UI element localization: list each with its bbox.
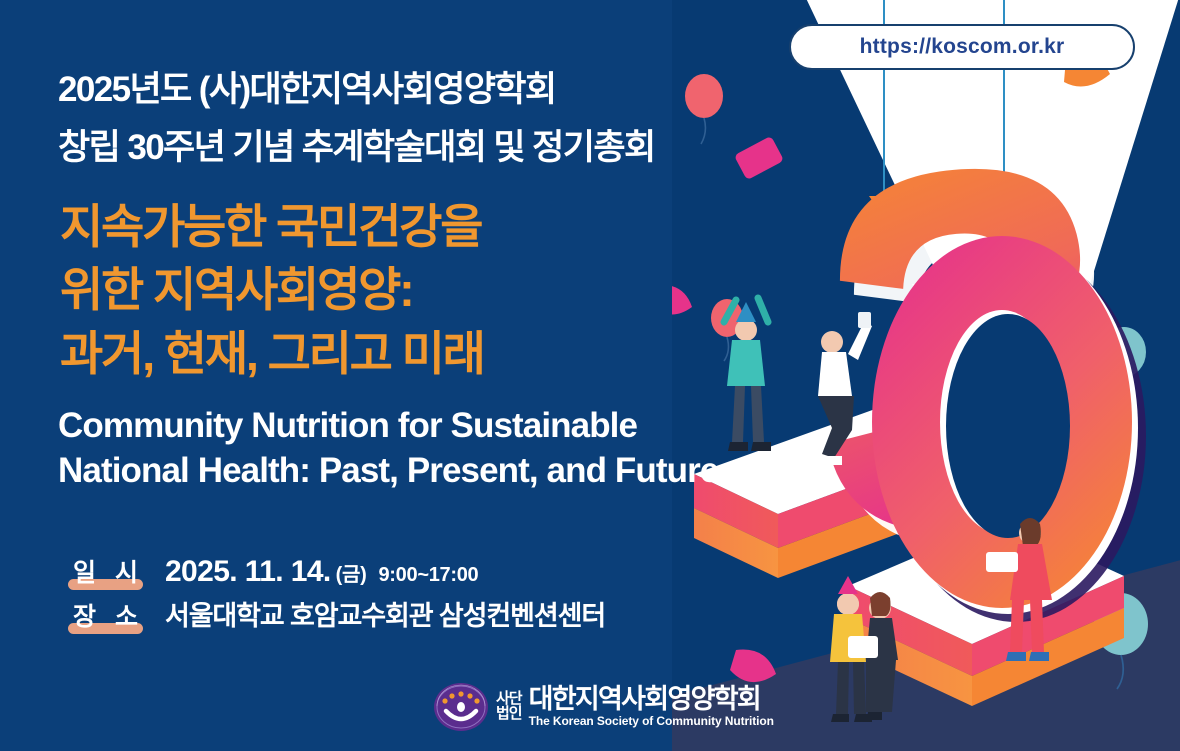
korean-title-line-2: 위한 지역사회영양: (60, 266, 413, 313)
organization-names: 대한지역사회영양학회 The Korean Society of Communi… (529, 685, 774, 728)
date-label: 일 시 (70, 553, 147, 589)
korean-title-line-1: 지속가능한 국민건강을 (60, 203, 481, 250)
korean-title-line-3: 과거, 현재, 그리고 미래 (60, 330, 484, 377)
society-emblem-icon (432, 679, 490, 733)
header-line-2: 창립 30주년 기념 추계학술대회 및 정기총회 (58, 130, 655, 165)
anniversary-graphic-svg (672, 0, 1180, 751)
confetti-rect-pink-1 (734, 136, 784, 180)
corporate-designation: 사단 법인 (496, 691, 522, 721)
english-title-line-2: National Health: Past, Present, and Futu… (58, 453, 718, 488)
website-url-banner[interactable]: https://koscom.or.kr (789, 24, 1135, 70)
poster-text-content: 2025년도 (사)대한지역사회영양학회 창립 30주년 기념 추계학술대회 및… (0, 0, 700, 751)
date-value: 2025. 11. 14. (165, 555, 331, 589)
corporate-designation-line-1: 사단 (496, 691, 522, 706)
organization-name-korean: 대한지역사회영양학회 (529, 685, 774, 713)
conference-poster: https://koscom.or.kr (0, 0, 1180, 751)
date-day-of-week: (금) (336, 558, 367, 587)
event-venue-row: 장 소 서울대학교 호암교수회관 삼성컨벤션센터 (70, 594, 605, 633)
confetti-ribbon-pink-3 (730, 650, 776, 683)
venue-label: 장 소 (70, 597, 147, 633)
header-line-1: 2025년도 (사)대한지역사회영양학회 (58, 72, 556, 107)
english-title-line-1: Community Nutrition for Sustainable (58, 408, 637, 443)
venue-value: 서울대학교 호암교수회관 삼성컨벤션센터 (165, 594, 605, 633)
anniversary-graphic: 1995-2025 th (672, 0, 1180, 751)
website-url-text: https://koscom.or.kr (860, 35, 1065, 59)
society-logo: 사단 법인 대한지역사회영양학회 The Korean Society of C… (432, 679, 774, 733)
organization-name-english: The Korean Society of Community Nutritio… (529, 715, 774, 728)
event-date-row: 일 시 2025. 11. 14. (금) 9:00~17:00 (70, 553, 478, 589)
corporate-designation-line-2: 법인 (496, 706, 522, 721)
date-time-range: 9:00~17:00 (378, 564, 478, 587)
